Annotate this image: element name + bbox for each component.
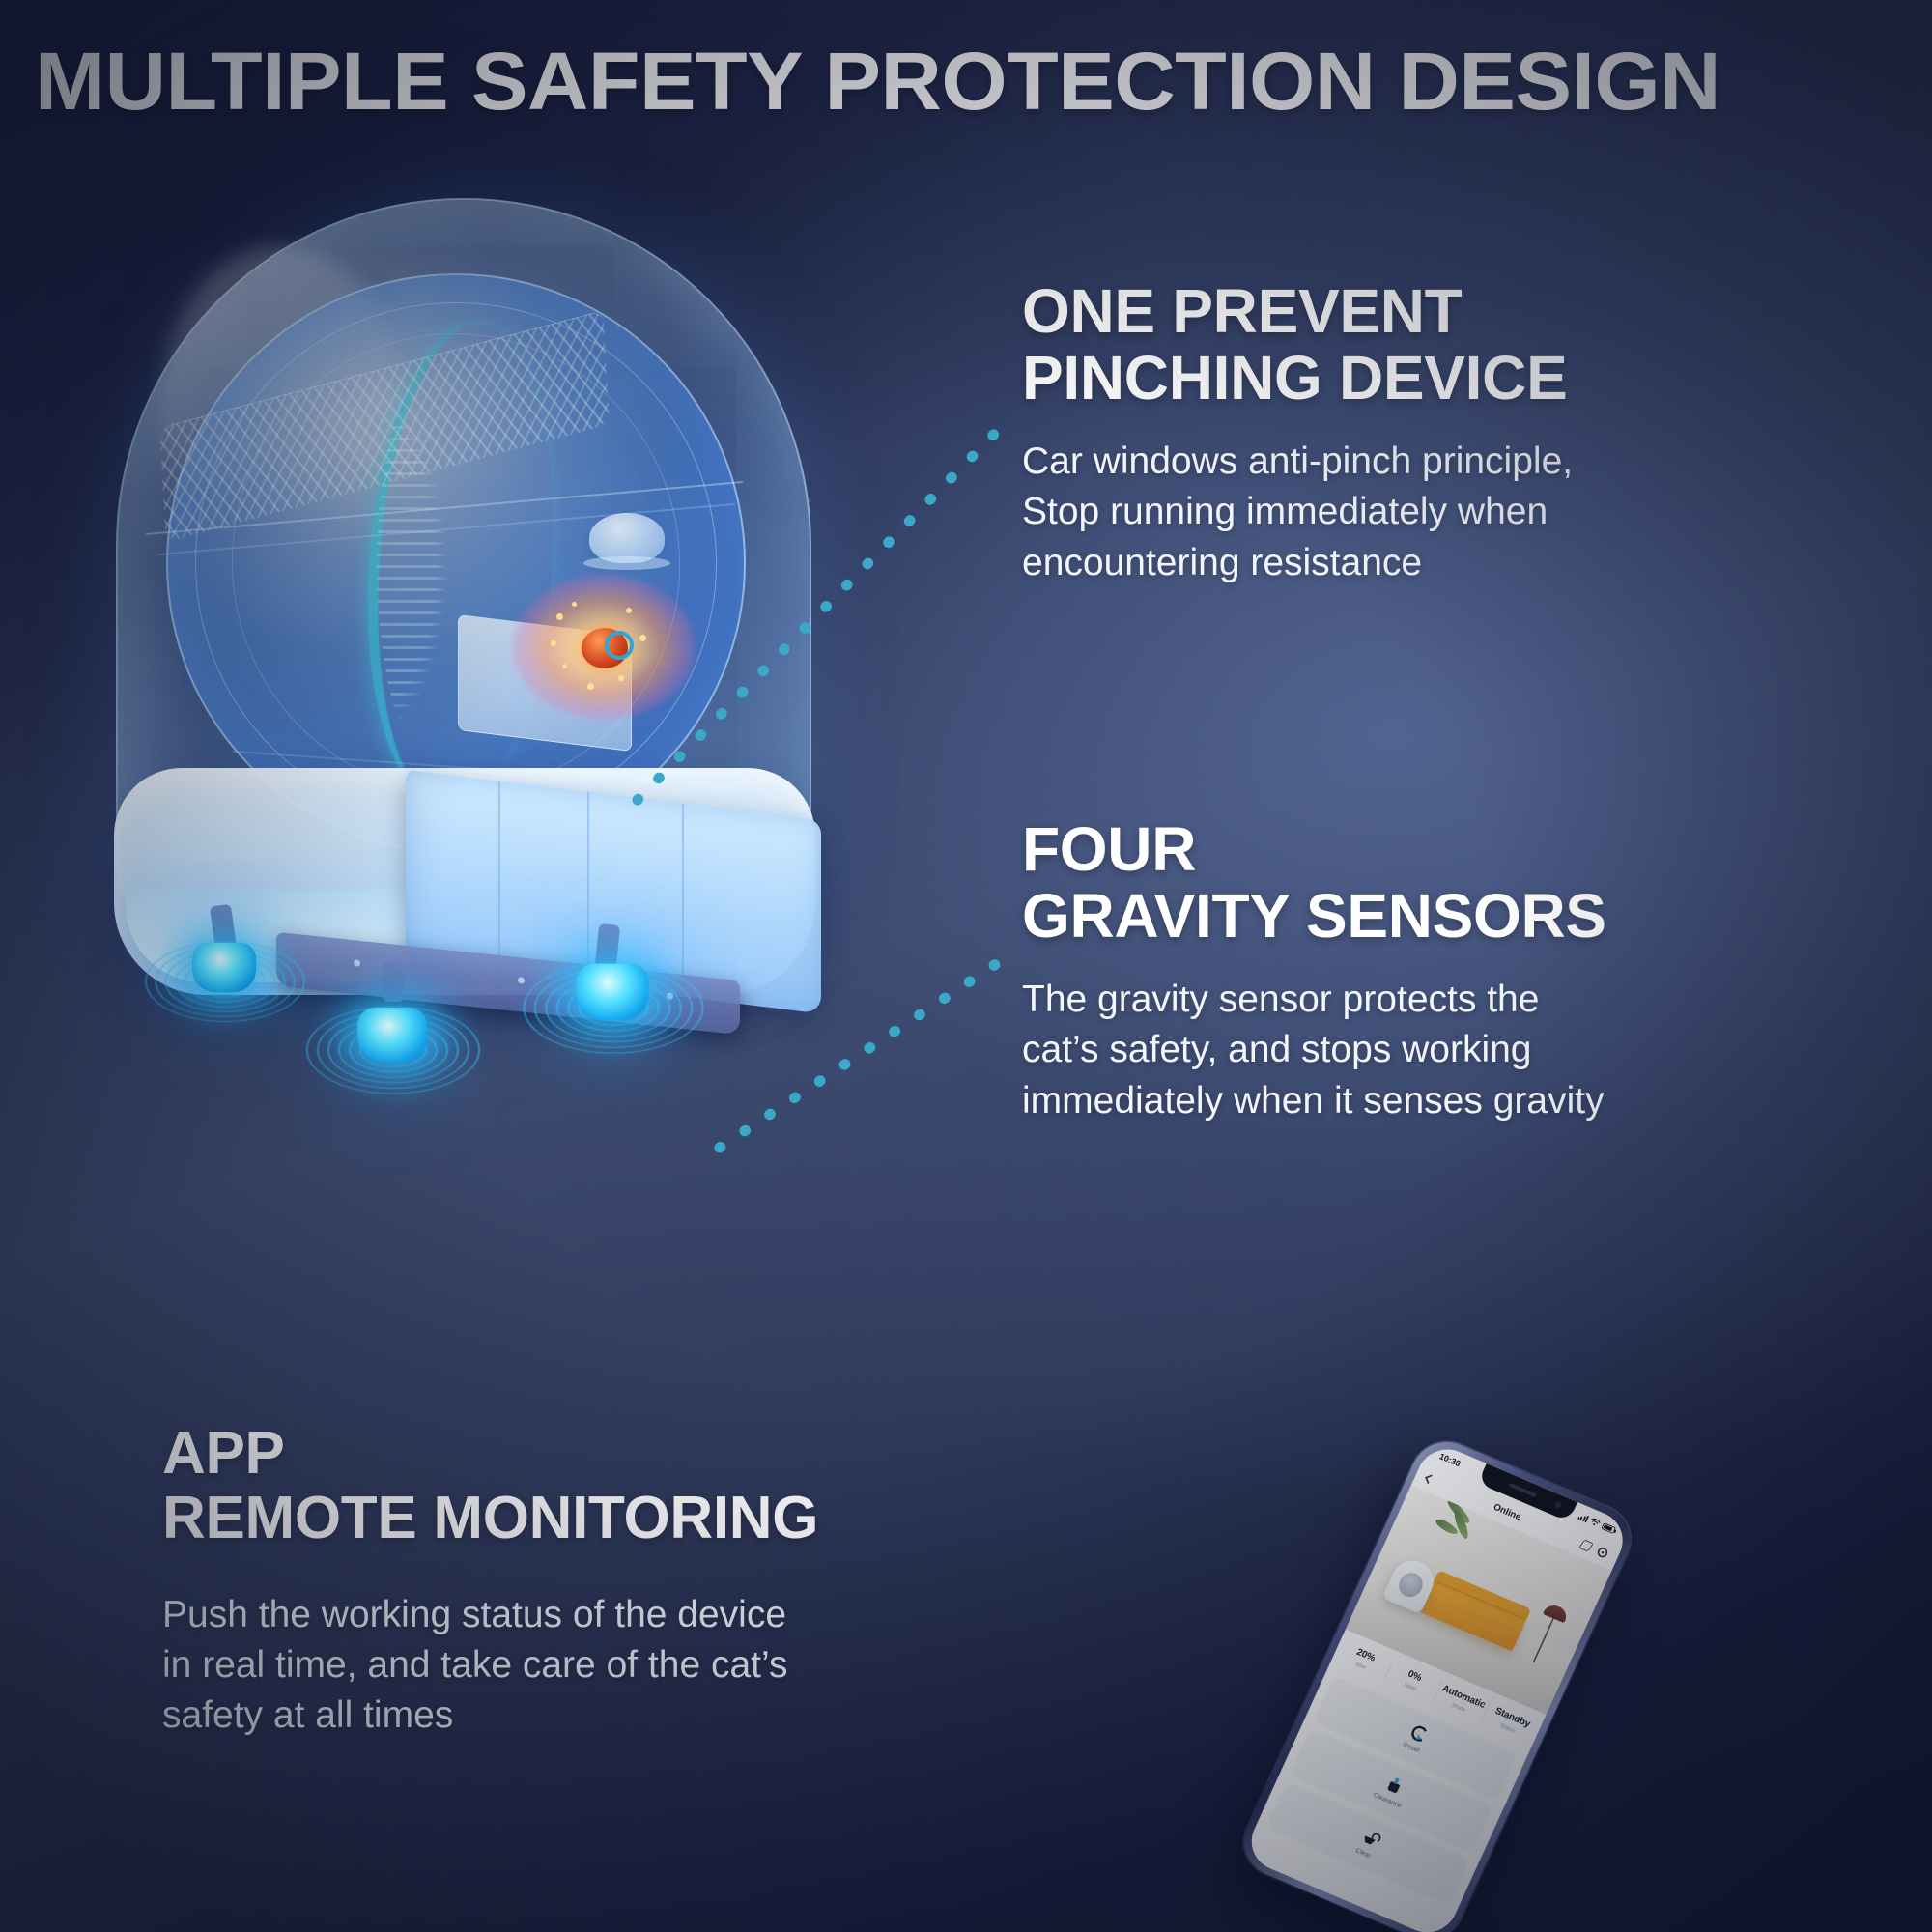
- lid-knob: [589, 513, 665, 563]
- status-bar-time: 10:36: [1437, 1452, 1462, 1469]
- callout-body: Push the working status of the device in…: [162, 1590, 1032, 1742]
- product-xray-render: [87, 188, 879, 1058]
- device-status-title: Online: [1492, 1501, 1522, 1522]
- callout-body-line-3: immediately when it senses gravity: [1022, 1080, 1605, 1122]
- infographic-canvas: MULTIPLE SAFETY PROTECTION DESIGN ONE PR…: [0, 0, 1932, 1932]
- screen-share-icon[interactable]: [1578, 1539, 1594, 1551]
- battery-icon: [1602, 1522, 1617, 1534]
- callout-body-line-1: Push the working status of the device: [162, 1594, 786, 1635]
- action-label: Clear: [1354, 1846, 1372, 1860]
- callout-body: The gravity sensor protects the cat’s sa…: [1022, 975, 1920, 1126]
- gear-icon[interactable]: [1596, 1546, 1609, 1559]
- callout-heading-line-1: APP: [162, 1420, 285, 1487]
- callout-heading-line-2: REMOTE MONITORING: [162, 1485, 818, 1551]
- front-camera: [1553, 1500, 1563, 1509]
- callout-heading-line-1: ONE PREVENT: [1022, 276, 1462, 346]
- page-title: MULTIPLE SAFETY PROTECTION DESIGN: [35, 41, 1932, 122]
- phone-screen: 10:36 Online: [1242, 1440, 1633, 1932]
- sensor-marker-ring: [605, 631, 634, 660]
- anti-pinch-sensor-highlight: [512, 575, 696, 720]
- action-label: Reset: [1402, 1741, 1421, 1754]
- callout-gravity-sensors: FOUR GRAVITY SENSORS The gravity sensor …: [1022, 816, 1920, 1126]
- signal-bars-icon: [1577, 1512, 1589, 1521]
- earpiece-speaker: [1509, 1483, 1538, 1498]
- callout-prevent-pinching: ONE PREVENT PINCHING DEVICE Car windows …: [1022, 278, 1872, 588]
- callout-body-line-2: in real time, and take care of the cat’s: [162, 1644, 787, 1686]
- callout-heading-line-2: PINCHING DEVICE: [1022, 343, 1567, 412]
- callout-body: Car windows anti-pinch principle, Stop r…: [1022, 437, 1872, 588]
- callout-heading-line-2: GRAVITY SENSORS: [1022, 881, 1606, 951]
- clearance-icon: [1383, 1775, 1405, 1796]
- callout-app-remote-monitoring: APP REMOTE MONITORING Push the working s…: [162, 1422, 1032, 1742]
- reset-icon: [1407, 1722, 1429, 1744]
- callout-body-line-2: cat’s safety, and stops working: [1022, 1029, 1532, 1070]
- phone-mockup: 10:36 Online: [1273, 1403, 1679, 1905]
- chevron-left-icon[interactable]: [1425, 1474, 1434, 1483]
- gravity-sensor-foot: [141, 920, 310, 1026]
- callout-body-line-1: Car windows anti-pinch principle,: [1022, 440, 1573, 482]
- callout-body-line-1: The gravity sensor protects the: [1022, 979, 1539, 1020]
- callout-heading-line-1: FOUR: [1022, 814, 1196, 884]
- clear-icon: [1359, 1828, 1380, 1849]
- callout-body-line-3: encountering resistance: [1022, 542, 1422, 583]
- callout-heading: FOUR GRAVITY SENSORS: [1022, 816, 1920, 950]
- gravity-sensor-foot: [301, 982, 485, 1098]
- callout-heading: ONE PREVENT PINCHING DEVICE: [1022, 278, 1872, 412]
- callout-heading: APP REMOTE MONITORING: [162, 1422, 1032, 1551]
- wifi-icon: [1589, 1517, 1602, 1527]
- gravity-sensor-foot: [518, 938, 709, 1059]
- callout-body-line-2: Stop running immediately when: [1022, 491, 1548, 532]
- callout-body-line-3: safety at all times: [162, 1694, 453, 1736]
